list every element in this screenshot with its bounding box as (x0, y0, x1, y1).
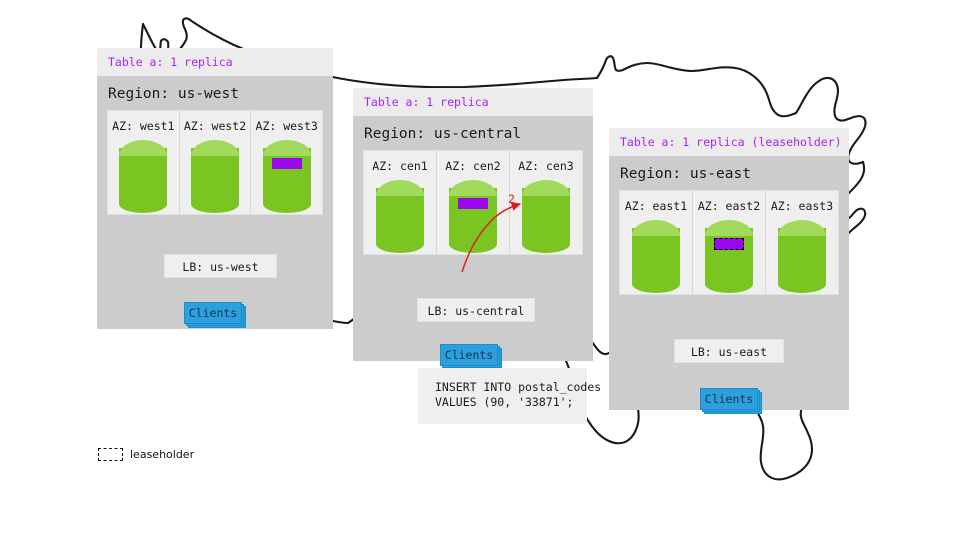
sql-statement-box: INSERT INTO postal_codes VALUES (90, '33… (418, 368, 587, 424)
az-label-cen1: AZ: cen1 (364, 159, 436, 173)
node-cylinder-east3[interactable] (778, 220, 826, 293)
cylinder-body (522, 188, 570, 253)
az-label-cen2: AZ: cen2 (437, 159, 509, 173)
legend: leaseholder (98, 448, 194, 461)
clients-button-us-central[interactable]: Clients (440, 344, 502, 368)
cylinder-top (705, 220, 753, 236)
az-label-west2: AZ: west2 (180, 119, 251, 133)
node-cylinder-cen2[interactable] (449, 180, 497, 253)
az-cell-east1[interactable]: AZ: east1 (620, 191, 693, 294)
az-label-east1: AZ: east1 (620, 199, 692, 213)
az-label-west1: AZ: west1 (108, 119, 179, 133)
region-title-us-east: Region: us-east (609, 156, 849, 190)
cylinder-body (778, 228, 826, 293)
region-title-us-central: Region: us-central (353, 116, 593, 150)
cylinder-body (376, 188, 424, 253)
clients-button-label-us-central: Clients (440, 344, 498, 366)
az-label-west3: AZ: west3 (251, 119, 322, 133)
az-row-us-east: AZ: east1 AZ: east2 AZ: east3 (619, 190, 839, 295)
az-cell-cen3[interactable]: AZ: cen3 (510, 151, 582, 254)
clients-button-us-west[interactable]: Clients (184, 302, 246, 326)
load-balancer-us-east[interactable]: LB: us-east (674, 339, 784, 363)
az-cell-west3[interactable]: AZ: west3 (251, 111, 322, 214)
az-label-cen3: AZ: cen3 (510, 159, 582, 173)
az-label-east3: AZ: east3 (766, 199, 838, 213)
clients-button-label-us-east: Clients (700, 388, 758, 410)
az-cell-west2[interactable]: AZ: west2 (180, 111, 252, 214)
clients-button-us-east[interactable]: Clients (700, 388, 762, 412)
table-replica-header-us-central: Table a: 1 replica (353, 88, 593, 116)
node-cylinder-east2[interactable] (705, 220, 753, 293)
cylinder-body (119, 148, 167, 213)
cylinder-top (778, 220, 826, 236)
cylinder-top (449, 180, 497, 196)
node-cylinder-west1[interactable] (119, 140, 167, 213)
load-balancer-us-central[interactable]: LB: us-central (417, 298, 535, 322)
leaseholder-replica-block-east2 (714, 238, 744, 250)
cylinder-top (263, 140, 311, 156)
cylinder-top (376, 180, 424, 196)
az-label-east2: AZ: east2 (693, 199, 765, 213)
region-body-us-east: Region: us-east AZ: east1 AZ: east2 (609, 156, 849, 410)
az-row-us-central: AZ: cen1 AZ: cen2 AZ: cen3 (363, 150, 583, 255)
node-cylinder-cen3[interactable] (522, 180, 570, 253)
node-cylinder-west3[interactable] (263, 140, 311, 213)
cylinder-body (191, 148, 239, 213)
cylinder-body (632, 228, 680, 293)
az-row-us-west: AZ: west1 AZ: west2 AZ: west3 (107, 110, 323, 215)
replica-block-west3 (272, 158, 302, 169)
region-panel-us-central: Table a: 1 replica Region: us-central AZ… (353, 88, 593, 361)
az-cell-cen2[interactable]: AZ: cen2 (437, 151, 510, 254)
node-cylinder-east1[interactable] (632, 220, 680, 293)
leaseholder-swatch-icon (98, 448, 123, 461)
region-panel-us-east: Table a: 1 replica (leaseholder) Region:… (609, 128, 849, 410)
cylinder-top (191, 140, 239, 156)
clients-button-label-us-west: Clients (184, 302, 242, 324)
table-replica-header-us-east: Table a: 1 replica (leaseholder) (609, 128, 849, 156)
region-panel-us-west: Table a: 1 replica Region: us-west AZ: w… (97, 48, 333, 329)
az-cell-east3[interactable]: AZ: east3 (766, 191, 838, 294)
diagram-canvas: Table a: 1 replica Region: us-west AZ: w… (0, 0, 960, 540)
node-cylinder-cen1[interactable] (376, 180, 424, 253)
az-cell-west1[interactable]: AZ: west1 (108, 111, 180, 214)
region-body-us-west: Region: us-west AZ: west1 AZ: west2 (97, 76, 333, 329)
table-replica-header-us-west: Table a: 1 replica (97, 48, 333, 76)
legend-label-leaseholder: leaseholder (130, 448, 194, 461)
az-cell-cen1[interactable]: AZ: cen1 (364, 151, 437, 254)
az-cell-east2[interactable]: AZ: east2 (693, 191, 766, 294)
region-title-us-west: Region: us-west (97, 76, 333, 110)
region-body-us-central: Region: us-central AZ: cen1 AZ: cen2 (353, 116, 593, 361)
cylinder-top (632, 220, 680, 236)
arrow-step-label-2: 2 (508, 192, 515, 206)
cylinder-top (119, 140, 167, 156)
cylinder-top (522, 180, 570, 196)
load-balancer-us-west[interactable]: LB: us-west (164, 254, 277, 278)
node-cylinder-west2[interactable] (191, 140, 239, 213)
replica-block-cen2 (458, 198, 488, 209)
